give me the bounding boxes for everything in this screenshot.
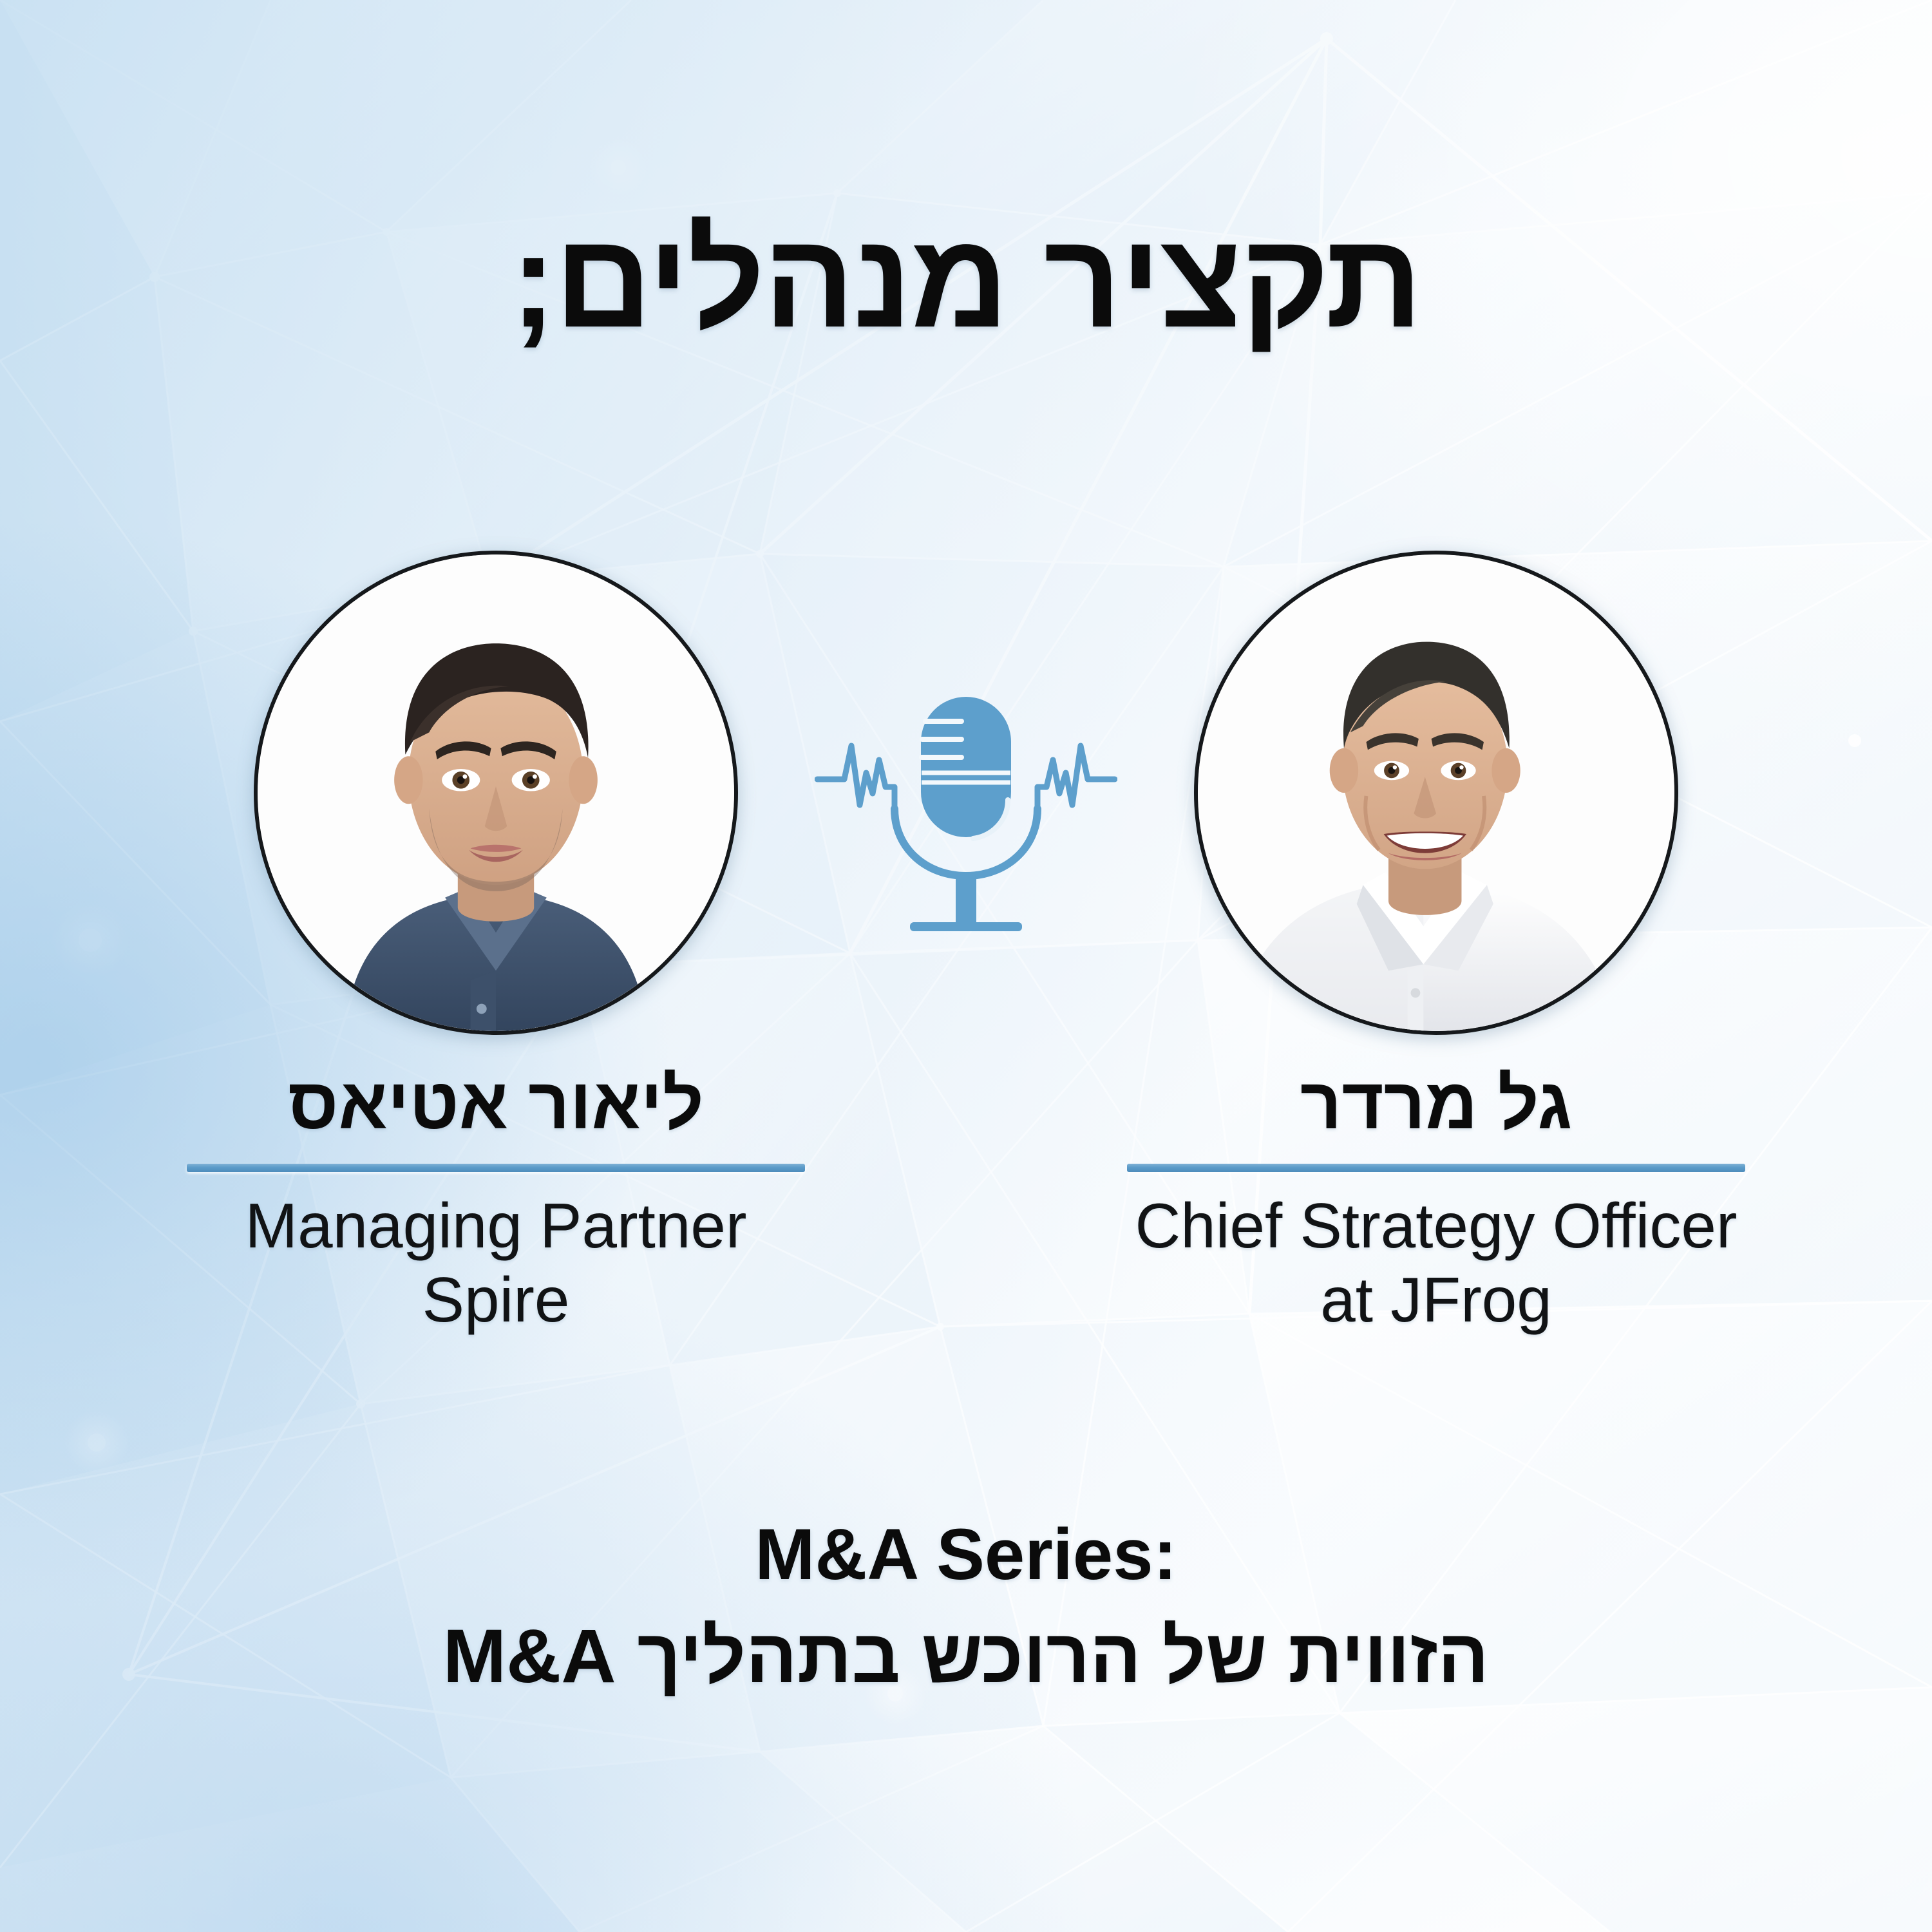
speaker-role-line2: at JFrog: [1056, 1263, 1816, 1338]
avatar: [1194, 551, 1678, 1035]
speaker-name: ליאור אטיאס: [116, 1066, 876, 1142]
episode-label: הזווית של הרוכש בתהליך M&A: [0, 1613, 1932, 1701]
speaker-role-line2: Spire: [116, 1263, 876, 1338]
photo-of-lior-atias: [258, 554, 734, 1031]
speaker-role: Chief Strategy Officer at JFrog: [1056, 1189, 1816, 1338]
speaker-role: Managing Partner Spire: [116, 1189, 876, 1338]
footer: :M&A Series הזווית של הרוכש בתהליך M&A: [0, 1513, 1932, 1700]
speaker-card-right: גל מרדר Chief Strategy Officer at JFrog: [1056, 551, 1816, 1338]
avatar: [254, 551, 738, 1035]
speaker-role-line1: Managing Partner: [116, 1189, 876, 1264]
speaker-card-left: ליאור אטיאס Managing Partner Spire: [116, 551, 876, 1338]
speaker-divider: [187, 1164, 805, 1172]
speaker-divider: [1127, 1164, 1745, 1172]
photo-of-gal-marder: [1198, 554, 1674, 1031]
podcast-cover: תקציר מנהלים;: [0, 0, 1932, 1932]
speaker-role-line1: Chief Strategy Officer: [1056, 1189, 1816, 1264]
page-title: תקציר מנהלים;: [0, 213, 1932, 348]
speaker-name: גל מרדר: [1056, 1066, 1816, 1142]
series-label: :M&A Series: [0, 1513, 1932, 1596]
